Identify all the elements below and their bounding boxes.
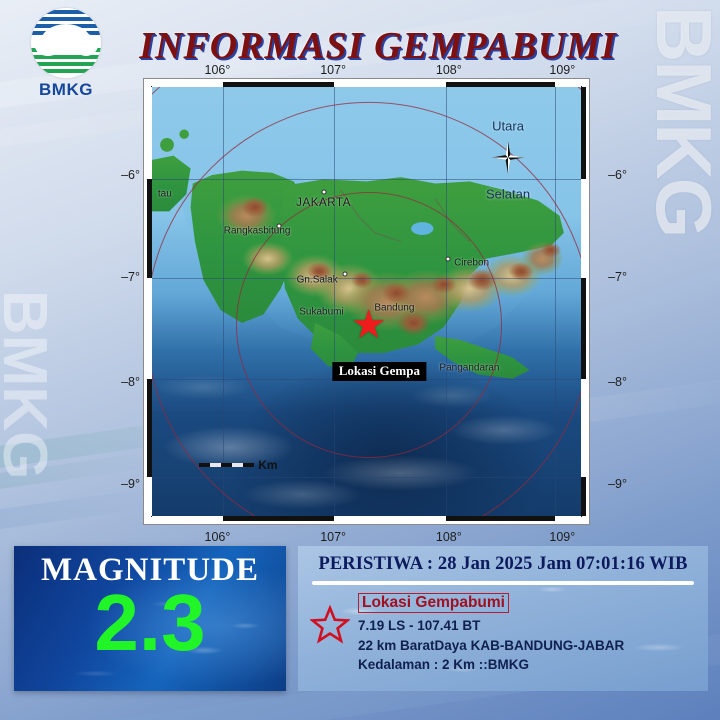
depth-line: Kedalaman : 2 Km ::BMKG bbox=[358, 655, 698, 675]
city-label-cirebon: Cirebon bbox=[454, 257, 489, 268]
magnitude-panel: MAGNITUDE 2.3 bbox=[14, 546, 286, 691]
city-label-krakatau: tau bbox=[158, 189, 172, 200]
info-divider bbox=[312, 581, 694, 585]
bmkg-watermark-right: BMKG bbox=[649, 6, 718, 236]
lon-tick-106-bottom: 106° bbox=[204, 530, 230, 544]
lon-tick-109-bottom: 109° bbox=[549, 530, 575, 544]
city-label-pangandaran: Pangandaran bbox=[439, 362, 499, 373]
compass-rose-icon bbox=[491, 140, 525, 179]
map-canvas: JAKARTA Rangkasbitung Gn.Salak Sukabumi … bbox=[152, 87, 581, 516]
lat-tick-8-right: –8° bbox=[608, 375, 627, 389]
epicenter-label: Lokasi Gempa bbox=[333, 362, 426, 381]
lon-tick-107-top: 107° bbox=[320, 63, 346, 77]
bmkg-logo: BMKG bbox=[16, 8, 116, 100]
city-label-gn-salak: Gn.Salak bbox=[297, 275, 338, 286]
lat-tick-8-left: –8° bbox=[121, 375, 140, 389]
map-frame: JAKARTA Rangkasbitung Gn.Salak Sukabumi … bbox=[151, 86, 582, 517]
coordinates-line: 7.19 LS - 107.41 BT bbox=[358, 616, 698, 636]
region-line: 22 km BaratDaya KAB-BANDUNG-JABAR bbox=[358, 636, 698, 656]
event-datetime: PERISTIWA : 28 Jan 2025 Jam 07:01:16 WIB bbox=[308, 554, 698, 575]
lon-tick-108-top: 108° bbox=[436, 63, 462, 77]
city-label-jakarta: JAKARTA bbox=[296, 197, 351, 209]
location-star-icon bbox=[310, 605, 350, 650]
earthquake-map: 106° 107° 108° 109° 106° 107° 108° 109° … bbox=[143, 78, 590, 525]
epicenter-star-icon: ★ bbox=[351, 305, 387, 345]
location-heading: Lokasi Gempabumi bbox=[358, 593, 509, 613]
map-scale-label: Km bbox=[258, 458, 277, 472]
magnitude-value: 2.3 bbox=[14, 583, 286, 663]
lat-tick-6-right: –6° bbox=[608, 168, 627, 182]
event-info-panel: PERISTIWA : 28 Jan 2025 Jam 07:01:16 WIB… bbox=[298, 546, 708, 691]
lat-tick-9-right: –9° bbox=[608, 477, 627, 491]
bmkg-logo-label: BMKG bbox=[16, 80, 116, 100]
direction-label-utara: Utara bbox=[492, 118, 524, 133]
direction-label-selatan: Selatan bbox=[486, 187, 530, 202]
bmkg-watermark-left: BMKG bbox=[0, 290, 52, 479]
lon-tick-106-top: 106° bbox=[204, 63, 230, 77]
lon-tick-108-bottom: 108° bbox=[436, 530, 462, 544]
page-title: INFORMASI GEMPABUMI bbox=[118, 24, 638, 68]
city-label-rangkasbitung: Rangkasbitung bbox=[224, 225, 291, 236]
city-label-sukabumi: Sukabumi bbox=[299, 307, 343, 318]
lat-tick-6-left: –6° bbox=[121, 168, 140, 182]
bmkg-logo-icon bbox=[31, 8, 101, 78]
map-scale-bar: Km bbox=[199, 458, 277, 472]
lat-tick-9-left: –9° bbox=[121, 477, 140, 491]
lat-tick-7-left: –7° bbox=[121, 270, 140, 284]
lat-tick-7-right: –7° bbox=[608, 270, 627, 284]
lon-tick-107-bottom: 107° bbox=[320, 530, 346, 544]
lon-tick-109-top: 109° bbox=[549, 63, 575, 77]
